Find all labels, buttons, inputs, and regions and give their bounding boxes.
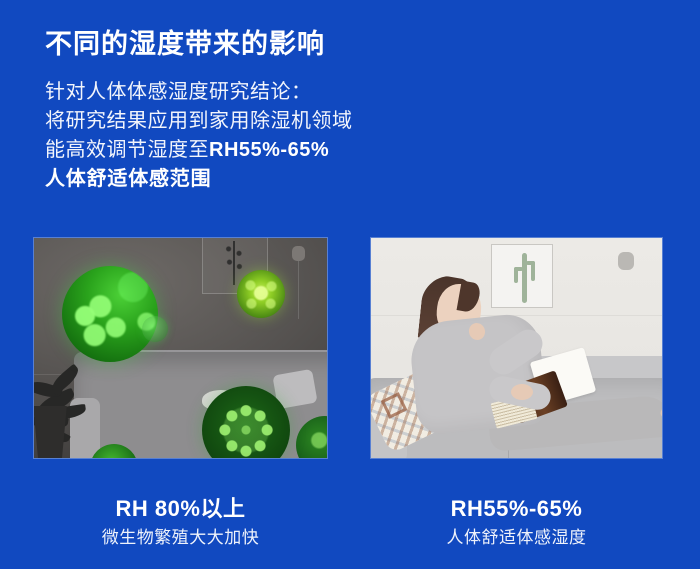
- panel-comfort-humidity-image: [370, 237, 663, 459]
- body-line-3: 能高效调节湿度至RH55%-65%: [45, 136, 465, 165]
- panel-high-humidity-image: [33, 237, 328, 459]
- woman-hand-on-book: [511, 384, 533, 400]
- body-line-4: 人体舒适体感范围: [45, 165, 465, 194]
- caption-subtitle: 人体舒适体感湿度: [370, 527, 663, 549]
- microbe-orb: [142, 316, 168, 342]
- caption-title: RH 80%以上: [33, 495, 328, 522]
- caption-high-humidity: RH 80%以上 微生物繁殖大大加快: [33, 495, 328, 549]
- infographic-page: 不同的湿度带来的影响 针对人体体感湿度研究结论： 将研究结果应用到家用除湿机领域…: [0, 0, 700, 569]
- image-panels: [0, 237, 700, 460]
- caption-comfort-humidity: RH55%-65% 人体舒适体感湿度: [370, 495, 663, 549]
- body-line-2: 将研究结果应用到家用除湿机领域: [45, 107, 465, 136]
- wall-art-frame: [491, 244, 553, 308]
- caption-subtitle: 微生物繁殖大大加快: [33, 527, 328, 549]
- dim-room-scene: [34, 238, 327, 458]
- body-line-3-prefix: 能高效调节湿度至: [45, 139, 209, 161]
- cactus-artwork-icon: [512, 251, 536, 303]
- woman-foot: [659, 403, 663, 421]
- body-line-1: 针对人体体感湿度研究结论：: [45, 78, 465, 107]
- microbe-orb: [237, 270, 285, 318]
- bright-room-scene: [371, 238, 662, 458]
- pendant-lamp-icon: [292, 246, 305, 261]
- body-copy: 针对人体体感湿度研究结论： 将研究结果应用到家用除湿机领域 能高效调节湿度至RH…: [45, 78, 465, 194]
- microbe-orb: [62, 266, 158, 362]
- wall-speaker-icon: [618, 252, 634, 270]
- microbe-cells: [62, 266, 158, 362]
- page-title: 不同的湿度带来的影响: [45, 22, 325, 61]
- caption-title: RH55%-65%: [370, 495, 663, 522]
- body-line-3-highlight: RH55%-65%: [209, 139, 329, 161]
